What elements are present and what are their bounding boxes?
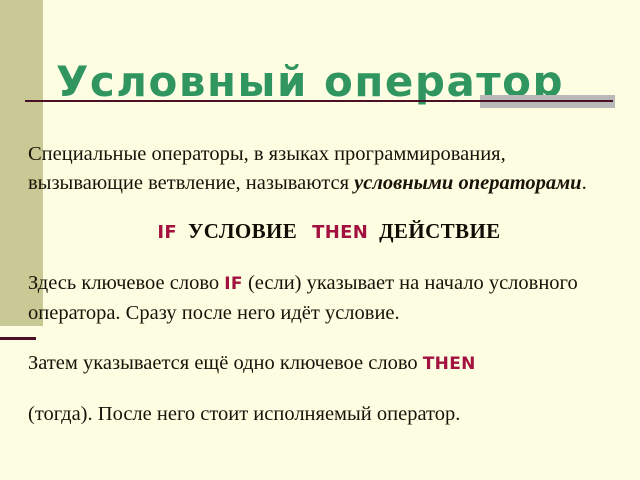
- paragraph-definition-emphasis: условными операторами: [354, 172, 581, 194]
- header-divider: [0, 93, 640, 109]
- formula-action: ДЕЙСТВИЕ: [379, 219, 501, 243]
- formula-line: IFУСЛОВИЕTHENДЕЙСТВИЕ: [28, 216, 616, 248]
- formula-condition: УСЛОВИЕ: [188, 219, 297, 243]
- formula-if-keyword: IF: [157, 222, 177, 243]
- paragraph-then-explanation: Затем указывается ещё одно ключевое слов…: [28, 349, 616, 379]
- paragraph-then-continuation-text: (тогда). После него стоит исполняемый оп…: [28, 403, 460, 425]
- slide-body: Специальные операторы, в языках программ…: [28, 140, 616, 429]
- paragraph-if-lead: Здесь ключевое слово: [28, 272, 224, 294]
- slide: Условный оператор Специальные операторы,…: [0, 0, 640, 480]
- inline-if-keyword: IF: [224, 274, 243, 294]
- paragraph-definition: Специальные операторы, в языках программ…: [28, 140, 616, 198]
- paragraph-then-lead: Затем указывается ещё одно ключевое слов…: [28, 352, 423, 374]
- inline-then-keyword: THEN: [423, 354, 476, 374]
- divider-line: [25, 100, 613, 102]
- formula-then-keyword: THEN: [312, 222, 368, 243]
- paragraph-definition-tail: .: [582, 172, 587, 194]
- paragraph-then-continuation: (тогда). После него стоит исполняемый оп…: [28, 400, 616, 429]
- paragraph-if-explanation: Здесь ключевое слово IF (если) указывает…: [28, 269, 616, 328]
